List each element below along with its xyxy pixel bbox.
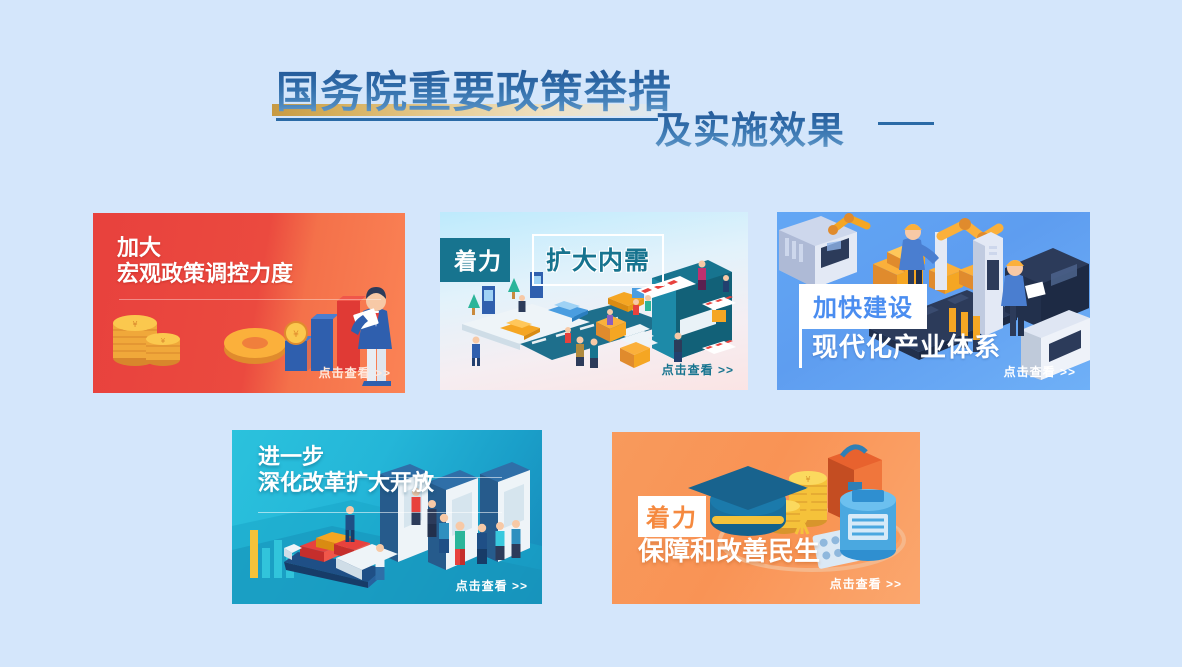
- card5-headline: 保障和改善民生: [638, 536, 820, 567]
- card3-tag-label: 加快建设: [813, 295, 913, 322]
- svg-text:¥: ¥: [132, 320, 137, 329]
- card4-headline-line-1: 进一步: [258, 444, 434, 470]
- card1-headline-line-1: 加大: [117, 235, 293, 261]
- card5-tag-label: 着力: [646, 505, 698, 532]
- policy-card-modern-industrial-system[interactable]: 加快建设 现代化产业体系 点击查看 >>: [777, 212, 1090, 390]
- title-blue-rule-right: [878, 122, 934, 125]
- card3-cta-link[interactable]: 点击查看 >>: [1004, 363, 1076, 380]
- svg-text:¥: ¥: [293, 330, 299, 340]
- card4-cta-link[interactable]: 点击查看 >>: [456, 577, 528, 594]
- card1-cta-link[interactable]: 点击查看 >>: [319, 364, 391, 381]
- card1-headline-rule: [119, 299, 381, 300]
- svg-text:¥: ¥: [805, 475, 810, 484]
- card1-headline: 加大 宏观政策调控力度: [117, 235, 293, 287]
- policy-card-increase-macro-policy-regulation[interactable]: ¥ ¥ ¥: [93, 213, 405, 393]
- svg-text:¥: ¥: [161, 337, 166, 345]
- card4-headline-line-2: 深化改革扩大开放: [258, 470, 434, 496]
- card4-headline-rule-bottom: [258, 512, 502, 513]
- card4-headline: 进一步 深化改革扩大开放: [258, 444, 434, 496]
- card2-headline-box: 扩大内需: [532, 234, 664, 286]
- card1-headline-line-2: 宏观政策调控力度: [117, 261, 293, 287]
- card3-headline-box: 现代化产业体系: [799, 324, 1011, 368]
- page-title-line-2: 及实施效果: [655, 100, 845, 154]
- card5-cta-link[interactable]: 点击查看 >>: [830, 575, 902, 592]
- card3-tag-box: 加快建设: [799, 284, 927, 329]
- page-title-line-1: 国务院重要政策举措: [276, 58, 672, 120]
- card2-tag-box: 着力: [440, 238, 510, 282]
- card2-headline: 扩大内需: [546, 247, 650, 275]
- card3-headline: 现代化产业体系: [812, 332, 1001, 362]
- policy-card-safeguard-improve-livelihood[interactable]: ¥ ¥: [612, 432, 920, 604]
- policy-card-deepen-reform-open-up[interactable]: 进一步 深化改革扩大开放 点击查看 >>: [232, 430, 542, 604]
- policy-card-expand-domestic-demand[interactable]: 着力 扩大内需 点击查看 >>: [440, 212, 748, 390]
- card2-cta-link[interactable]: 点击查看 >>: [662, 361, 734, 378]
- page-header: 国务院重要政策举措 及实施效果: [0, 0, 1182, 190]
- card2-tag-label: 着力: [454, 248, 502, 274]
- card5-tag-box: 着力: [638, 496, 706, 537]
